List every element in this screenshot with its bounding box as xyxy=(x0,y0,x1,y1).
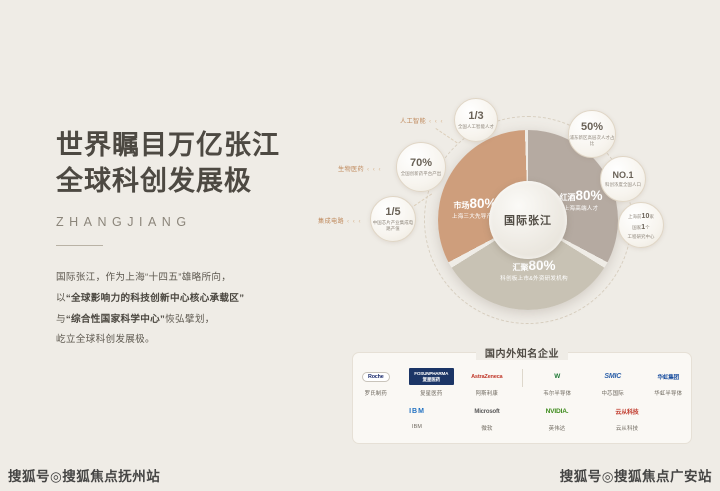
smic-logo-cell: SMIC 中芯国际 xyxy=(590,367,636,397)
logos-panel-title: 国内外知名企业 xyxy=(353,344,691,362)
ibm-icon: IBM xyxy=(392,402,442,421)
paragraph-line-3: 与“综合性国家科学中心”恢弘擘划， xyxy=(56,310,306,331)
wuxi-semiconductor-logo-cell: W 韦尔半导体 xyxy=(534,367,580,397)
paragraph-line-3-bold: “综合性国家科学中心” xyxy=(66,314,165,325)
title-divider xyxy=(56,245,103,246)
paragraph-line-4: 屹立全球科创发展极。 xyxy=(56,330,306,351)
integrated-circuit-bubble-text: 中国芯片产业集成电路产值 xyxy=(371,220,415,232)
roche-icon: Roche xyxy=(353,367,399,386)
paragraph-line-2-bold: “全球影响力的科技创新中心核心承载区” xyxy=(66,293,244,304)
yuncong-logo-cell: 云从科技 云从科技 xyxy=(602,402,652,432)
ai-bubble: 1/3 全国人工智能人才 xyxy=(454,98,498,142)
rank-bubble-value: NO.1 xyxy=(612,171,633,180)
page-title: 世界瞩目万亿张江 全球科创发展极 xyxy=(56,128,306,199)
talent-ratio-bubble: 50% 浦东新区高层次人才占比 xyxy=(568,110,616,158)
infographic: 市场80% 上海三大先导产业 红酒80% 上海高端人才 汇聚80% 科创板上市&… xyxy=(318,86,714,354)
microsoft-logo-cell: Microsoft 微软 xyxy=(462,402,512,432)
paragraph-line-2: 以“全球影响力的科技创新中心核心承载区” xyxy=(56,289,306,310)
segment-gathering-value: 汇聚80% xyxy=(488,258,580,275)
institutes-bubble-line-2: 国家1个 xyxy=(632,223,649,232)
rank-bubble-text: 科创浓度全国人口 xyxy=(605,182,641,188)
tag-integrated-circuit: 集成电路 xyxy=(318,216,362,225)
segment-gathering-prefix: 汇聚 xyxy=(512,263,528,272)
tag-ai: 人工智能 xyxy=(400,116,444,125)
logo-divider xyxy=(522,369,523,387)
segment-market-prefix: 市场 xyxy=(453,201,469,210)
nvidia-icon: NVIDIA. xyxy=(532,402,582,421)
watermark-right: 搜狐号◎搜狐焦点广安站 xyxy=(560,465,712,485)
institutes-text2-prefix: 国家 xyxy=(632,225,641,230)
fosun-pharma-icon: FOSUNPHARMA 复星医药 xyxy=(409,367,455,386)
segment-gathering-sublabel: 科创板上市&外资研发机构 xyxy=(488,276,580,283)
rank-bubble: NO.1 科创浓度全国人口 xyxy=(600,156,646,202)
yuncong-label: 云从科技 xyxy=(602,424,652,432)
fosun-pharma-label: 复星医药 xyxy=(409,389,455,397)
huahong-logo-cell: 华虹集团 华虹半导体 xyxy=(645,367,691,397)
institutes-bubble: 上海前10家 国家1个 工程研究中心 xyxy=(618,202,664,248)
ibm-label: IBM xyxy=(392,424,442,430)
integrated-circuit-bubble: 1/5 中国芯片产业集成电路产值 xyxy=(370,196,416,242)
huahong-label: 华虹半导体 xyxy=(645,389,691,397)
microsoft-icon: Microsoft xyxy=(462,402,512,421)
segment-talent-number: 80% xyxy=(575,188,602,203)
partner-logos-panel: 国内外知名企业 Roche 罗氏制药 FOSUNPHARMA 复星医药 复星医药… xyxy=(352,352,692,444)
wuxi-semiconductor-icon: W xyxy=(534,367,580,386)
nvidia-label: 英伟达 xyxy=(532,424,582,432)
wuxi-semiconductor-label: 韦尔半导体 xyxy=(534,389,580,397)
microsoft-label: 微软 xyxy=(462,424,512,432)
headline-line-2: 全球科创发展极 xyxy=(56,164,306,200)
segment-gathering-number: 80% xyxy=(528,258,555,273)
yuncong-icon: 云从科技 xyxy=(602,402,652,421)
pinyin-subtitle: ZHANGJIANG xyxy=(56,215,306,229)
donut-segment-gathering: 汇聚80% 科创板上市&外资研发机构 xyxy=(488,258,580,283)
huahong-icon: 华虹集团 xyxy=(645,367,691,386)
paragraph-line-1: 国际张江，作为上海“十四五”雄略所向， xyxy=(56,268,306,289)
astrazeneca-label: 阿斯利康 xyxy=(464,389,510,397)
logo-row-2: IBM IBM Microsoft 微软 NVIDIA. 英伟达 云从科技 云从… xyxy=(353,397,691,432)
paragraph-line-3-suffix: 恢弘擘划， xyxy=(165,314,214,325)
institutes-prefix: 上海前 xyxy=(628,214,641,219)
paragraph-line-2-prefix: 以 xyxy=(56,293,66,304)
watermark-bar: 搜狐号◎搜狐焦点抚州站 搜狐号◎搜狐焦点广安站 xyxy=(0,458,720,491)
integrated-circuit-bubble-value: 1/5 xyxy=(385,207,400,218)
roche-logo-cell: Roche 罗氏制药 xyxy=(353,367,399,397)
fosun-pharma-logo-cell: FOSUNPHARMA 复星医药 复星医药 xyxy=(409,367,455,397)
institutes-bubble-line-1: 上海前10家 xyxy=(628,212,654,221)
ai-bubble-text: 全国人工智能人才 xyxy=(458,124,494,130)
talent-ratio-bubble-value: 50% xyxy=(581,122,603,133)
astrazeneca-logo-cell: AstraZeneca 阿斯利康 xyxy=(464,367,510,397)
smic-label: 中芯国际 xyxy=(590,389,636,397)
donut-center-label: 国际张江 xyxy=(504,212,552,228)
watermark-left: 搜狐号◎搜狐焦点抚州站 xyxy=(8,465,160,485)
hero-paragraph: 国际张江，作为上海“十四五”雄略所向， 以“全球影响力的科技创新中心核心承载区”… xyxy=(56,268,306,351)
astrazeneca-icon: AstraZeneca xyxy=(464,367,510,386)
smic-icon: SMIC xyxy=(590,367,636,386)
tag-biomedicine: 生物医药 xyxy=(338,164,382,173)
institutes-text2-suffix: 个 xyxy=(645,225,650,230)
hero-text-column: 世界瞩目万亿张江 全球科创发展极 ZHANGJIANG 国际张江，作为上海“十四… xyxy=(56,128,306,351)
ai-bubble-value: 1/3 xyxy=(468,111,483,122)
donut-center: 国际张江 xyxy=(489,181,567,259)
logos-panel-title-text: 国内外知名企业 xyxy=(476,349,568,360)
biomedicine-bubble: 70% 全国创新药平台产出 xyxy=(396,142,446,192)
biomedicine-bubble-value: 70% xyxy=(410,158,432,169)
institutes-suffix: 家 xyxy=(649,214,654,219)
roche-label: 罗氏制药 xyxy=(353,389,399,397)
talent-ratio-bubble-text: 浦东新区高层次人才占比 xyxy=(569,135,615,147)
ibm-logo-cell: IBM IBM xyxy=(392,402,442,432)
headline-line-1: 世界瞩目万亿张江 xyxy=(56,130,280,160)
nvidia-logo-cell: NVIDIA. 英伟达 xyxy=(532,402,582,432)
biomedicine-bubble-text: 全国创新药平台产出 xyxy=(401,171,441,177)
institutes-bubble-line-3: 工程研究中心 xyxy=(628,234,655,240)
paragraph-line-3-prefix: 与 xyxy=(56,314,66,325)
poster-canvas: 世界瞩目万亿张江 全球科创发展极 ZHANGJIANG 国际张江，作为上海“十四… xyxy=(0,0,720,491)
